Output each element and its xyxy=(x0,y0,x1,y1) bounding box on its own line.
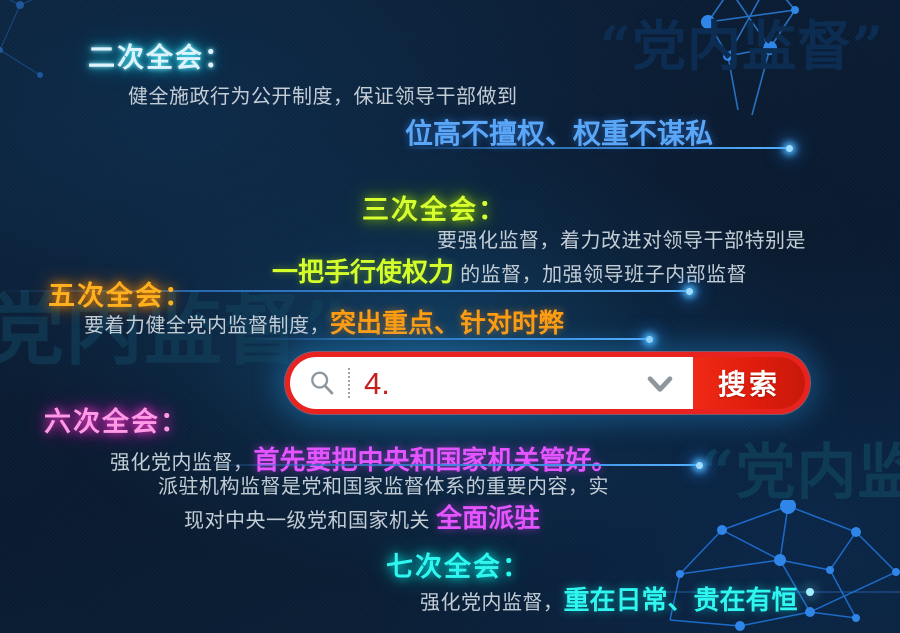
highlight-text: 全面派驻 xyxy=(436,503,540,533)
section-highlight-2nd-plenum: 位高不擅权、权重不谋私 xyxy=(405,112,713,152)
search-submit-button[interactable]: 搜索 xyxy=(693,357,805,409)
text-cursor xyxy=(348,368,350,398)
highlight-text: 位高不擅权、权重不谋私 xyxy=(405,118,713,149)
highlight-text: 重在日常、贵在有恒 xyxy=(564,585,798,615)
body-text: 健全施政行为公开制度，保证领导干部做到 xyxy=(128,86,518,108)
body-text: 派驻机构监督是党和国家监督体系的重要内容，实 xyxy=(158,476,609,498)
body-text: 要强化监督，着力改进对领导干部特别是 xyxy=(437,230,806,252)
glow-dot xyxy=(646,336,653,343)
heading-text: 六次全会： xyxy=(44,407,189,437)
search-bar[interactable]: 4. 搜索 xyxy=(285,352,810,414)
chevron-down-icon[interactable] xyxy=(643,366,677,400)
glow-dot xyxy=(786,145,793,152)
section-body-3rd-plenum-line1: 要强化监督，着力改进对领导干部特别是 xyxy=(437,224,806,253)
divider-rule-4 xyxy=(200,464,700,466)
glow-dot xyxy=(686,288,693,295)
divider-rule-3 xyxy=(250,338,650,340)
section-body-7th-plenum-line1: 强化党内监督，重在日常、贵在有恒 xyxy=(420,580,798,617)
heading-text: 七次全会： xyxy=(386,552,531,582)
poster-canvas: “党内监督” 党内监督” “党内监 二次全会： 健全施政行为公开制度，保证领导干… xyxy=(0,0,900,633)
body-text: 强化党内监督， xyxy=(420,592,564,614)
section-heading-2nd-plenum: 二次全会： xyxy=(88,36,233,75)
body-text: 现对中央一级党和国家机关 xyxy=(184,510,436,532)
section-heading-3rd-plenum: 三次全会： xyxy=(362,188,507,227)
section-body-5th-plenum-line1: 要着力健全党内监督制度，突出重点、针对时弊 xyxy=(84,303,564,340)
body-text: 的监督，加强领导班子内部监督 xyxy=(454,264,747,286)
section-body-6th-plenum-line2: 派驻机构监督是党和国家监督体系的重要内容，实 xyxy=(158,470,609,499)
heading-text: 二次全会： xyxy=(88,43,233,73)
section-heading-7th-plenum: 七次全会： xyxy=(386,545,531,584)
watermark-top-right: “党内监督” xyxy=(600,2,884,81)
divider-rule-1 xyxy=(400,147,790,149)
highlight-text: 突出重点、针对时弊 xyxy=(330,308,564,338)
section-body-3rd-plenum-line2: 一把手行使权力 的监督，加强领导班子内部监督 xyxy=(272,252,747,289)
highlight-text: 一把手行使权力 xyxy=(272,257,454,287)
glow-dot xyxy=(696,462,703,469)
search-input-value[interactable]: 4. xyxy=(364,368,643,399)
section-heading-6th-plenum: 六次全会： xyxy=(44,400,189,439)
watermark-right: “党内监 xyxy=(700,424,900,511)
network-graphic-top xyxy=(620,0,860,120)
search-input-field[interactable]: 4. xyxy=(290,357,693,409)
section-body-2nd-plenum-line1: 健全施政行为公开制度，保证领导干部做到 xyxy=(128,80,518,109)
section-body-6th-plenum-line3: 现对中央一级党和国家机关 全面派驻 xyxy=(184,498,540,535)
body-text: 要着力健全党内监督制度， xyxy=(84,315,330,337)
search-icon xyxy=(308,369,336,397)
heading-text: 三次全会： xyxy=(362,195,507,225)
